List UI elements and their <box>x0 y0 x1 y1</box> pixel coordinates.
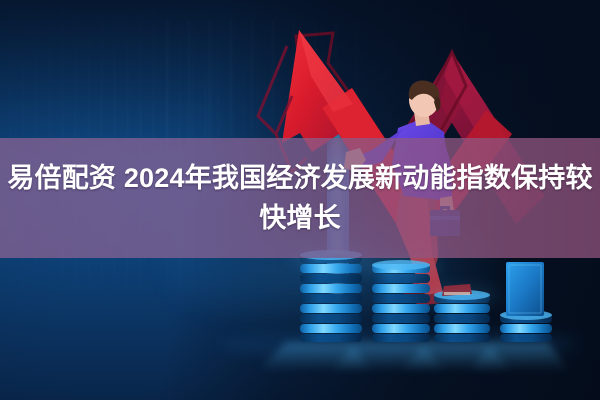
news-hero-image: 易倍配资 2024年我国经济发展新动能指数保持较 快增长 <box>0 0 600 400</box>
caption-line-2: 快增长 <box>259 199 341 237</box>
caption-text-block: 易倍配资 2024年我国经济发展新动能指数保持较 快增长 <box>0 138 600 258</box>
blue-banknote-block <box>506 262 544 316</box>
caption-line-1: 易倍配资 2024年我国经济发展新动能指数保持较 <box>7 159 592 197</box>
